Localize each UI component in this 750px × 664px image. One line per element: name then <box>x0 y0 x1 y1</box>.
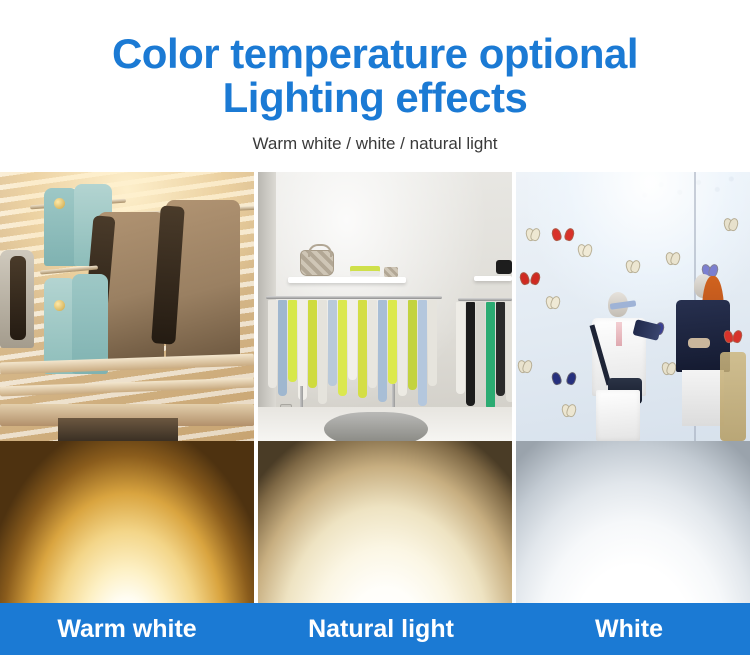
label-natural-light: Natural light <box>254 615 508 644</box>
hanging-garment <box>486 302 495 410</box>
headline-line-1: Color temperature optional <box>112 30 638 77</box>
color-temperature-label-bar: Warm white Natural light White <box>0 603 750 655</box>
butterfly-decal <box>520 272 540 287</box>
folded-garment <box>496 260 512 274</box>
garment-badge <box>54 300 65 311</box>
wall-shelf <box>288 277 406 283</box>
hanging-garment <box>298 300 307 400</box>
hanging-garment <box>456 302 465 394</box>
hanging-garment <box>496 302 505 396</box>
hanging-garment <box>348 300 357 380</box>
butterfly-decal <box>526 228 540 239</box>
butterfly-decal <box>724 330 742 344</box>
garment-badge <box>54 198 65 209</box>
scene-image-white <box>516 172 750 441</box>
display-bench <box>324 412 428 441</box>
hanging-garment <box>368 300 377 388</box>
wall-shelf <box>474 276 512 281</box>
sweater-sleeve <box>10 256 26 340</box>
white-trousers <box>596 390 640 441</box>
hanging-garment <box>278 300 287 396</box>
accessory <box>384 267 398 277</box>
hanging-garment <box>506 302 512 402</box>
beam-swatch-white <box>516 441 750 603</box>
necktie <box>616 322 622 346</box>
page-title: Color temperature optional Lighting effe… <box>0 32 750 120</box>
butterfly-decal <box>546 296 560 307</box>
scene-image-warm-white <box>0 172 254 441</box>
butterfly-decal <box>518 360 532 371</box>
hanging-garment <box>466 302 475 406</box>
hanging-garment <box>318 300 327 404</box>
butterfly-decal <box>552 228 574 244</box>
warm-white-beam <box>0 441 254 603</box>
beam-swatch-natural-light <box>258 441 512 603</box>
counter-base <box>58 418 178 441</box>
clothes-rail <box>458 298 512 301</box>
butterfly-decal <box>578 244 592 255</box>
butterfly-decal <box>562 404 576 415</box>
light-beam-row <box>0 441 750 603</box>
hanging-garment <box>328 300 337 386</box>
decor-tree <box>720 352 746 441</box>
hanging-garment <box>308 300 317 388</box>
butterfly-decal <box>724 218 738 229</box>
clothes-rail <box>266 296 442 299</box>
product-feature-banner: Color temperature optional Lighting effe… <box>0 0 750 664</box>
headline-line-2: Lighting effects <box>0 76 750 120</box>
header: Color temperature optional Lighting effe… <box>0 0 750 154</box>
hanging-garment <box>398 300 407 396</box>
scene-photo-row <box>0 172 750 441</box>
hanging-garment <box>268 300 277 388</box>
hanging-garment <box>408 300 417 390</box>
natural-light-beam <box>258 441 512 603</box>
folded-garment <box>350 271 380 276</box>
butterfly-decal <box>662 362 676 373</box>
butterfly-decal <box>552 372 576 389</box>
hanging-garment <box>388 300 397 384</box>
hanging-garment <box>418 300 427 406</box>
white-skirt <box>682 370 724 426</box>
mannequin-hands <box>688 338 710 348</box>
scene-image-natural-light <box>258 172 512 441</box>
hanging-garment <box>476 302 485 390</box>
hanging-garment <box>338 300 347 396</box>
hanging-garment <box>358 300 367 398</box>
hanging-garment <box>378 300 387 402</box>
hanging-garment <box>288 300 297 382</box>
handbag <box>300 250 334 276</box>
label-white: White <box>508 615 750 644</box>
white-beam <box>516 441 750 603</box>
butterfly-decal <box>666 252 680 263</box>
label-warm-white: Warm white <box>0 615 254 644</box>
subtitle: Warm white / white / natural light <box>0 134 750 154</box>
hanging-garment <box>428 300 437 386</box>
beam-swatch-warm-white <box>0 441 254 603</box>
butterfly-decal <box>626 260 640 271</box>
